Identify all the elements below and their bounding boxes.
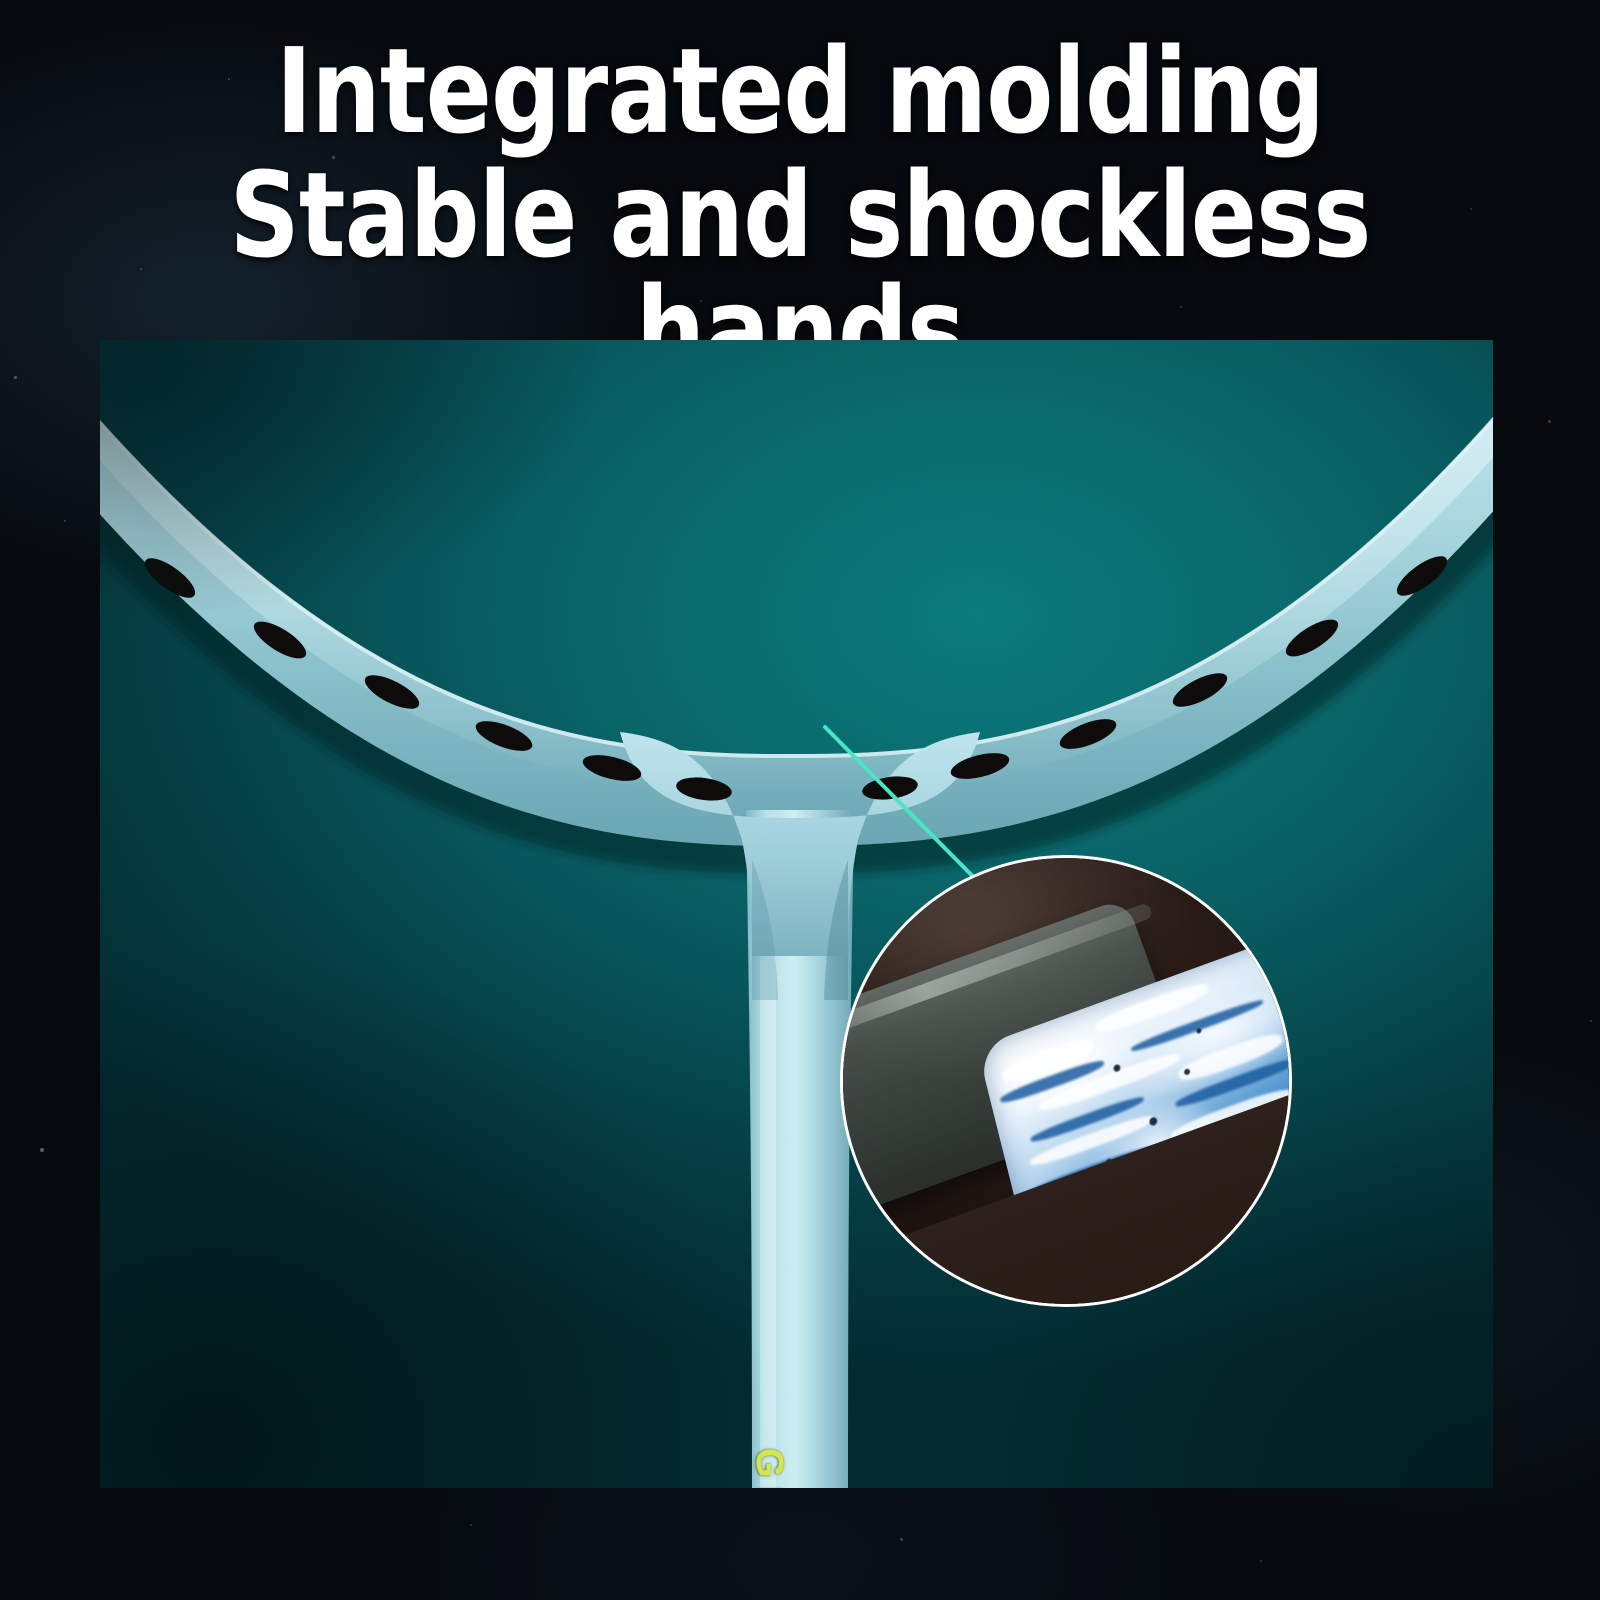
magnifier-inset bbox=[840, 855, 1292, 1307]
brand-label-gemini: GEMINI bbox=[746, 1448, 790, 1488]
headline: Integrated molding Stable and shockless … bbox=[0, 34, 1600, 389]
page-canvas: Integrated molding Stable and shockless … bbox=[0, 0, 1600, 1600]
headline-line-1: Integrated molding bbox=[64, 34, 1536, 150]
